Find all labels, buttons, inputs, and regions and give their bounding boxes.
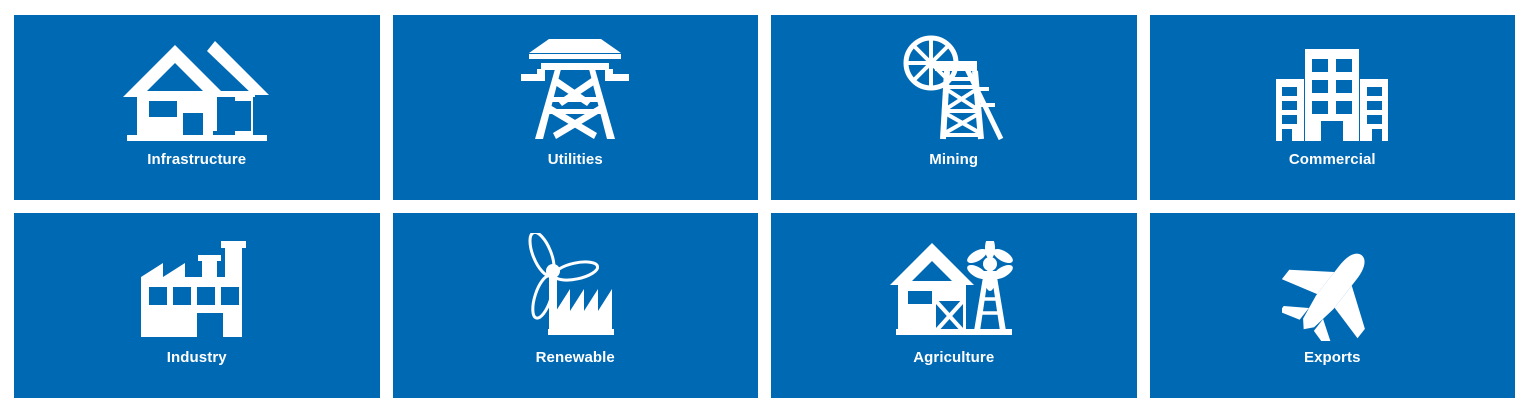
tile-renewable[interactable]: Renewable xyxy=(393,213,759,398)
mine-headframe-winding-wheel-icon xyxy=(897,27,1011,143)
tile-exports[interactable]: Exports xyxy=(1150,213,1516,398)
tile-agriculture[interactable]: Agriculture xyxy=(771,213,1137,398)
farmhouse-windmill-icon xyxy=(890,225,1018,341)
tile-label: Industry xyxy=(167,350,227,365)
airplane-icon xyxy=(1282,225,1382,341)
tile-label: Infrastructure xyxy=(147,152,246,167)
tile-label: Exports xyxy=(1304,350,1361,365)
tile-label: Mining xyxy=(929,152,978,167)
house-infrastructure-icon xyxy=(123,27,271,143)
tile-label: Commercial xyxy=(1289,152,1376,167)
tile-label: Agriculture xyxy=(913,350,994,365)
tile-infrastructure[interactable]: Infrastructure xyxy=(14,15,380,200)
factory-smokestacks-icon xyxy=(141,225,253,341)
office-buildings-icon xyxy=(1276,27,1388,143)
tile-utilities[interactable]: Utilities xyxy=(393,15,759,200)
power-transmission-tower-icon xyxy=(515,27,635,143)
tile-commercial[interactable]: Commercial xyxy=(1150,15,1516,200)
tile-label: Utilities xyxy=(548,152,603,167)
tile-mining[interactable]: Mining xyxy=(771,15,1137,200)
tile-label: Renewable xyxy=(536,350,615,365)
sector-tile-grid: Infrastructure xyxy=(0,0,1529,415)
tile-industry[interactable]: Industry xyxy=(14,213,380,398)
wind-turbine-factory-icon xyxy=(520,225,630,341)
